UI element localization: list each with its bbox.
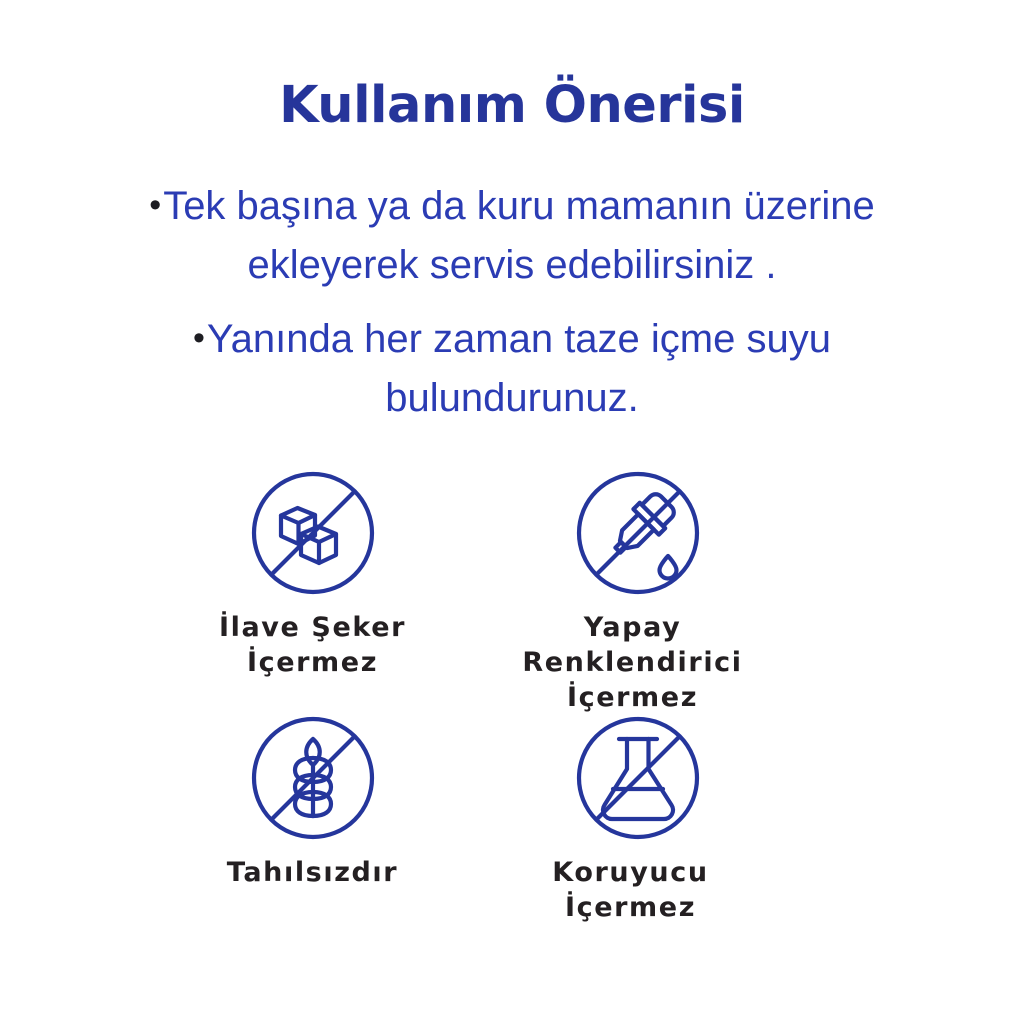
usage-suggestion-card: Kullanım Önerisi •Tek başına ya da kuru …: [0, 0, 1024, 1024]
bullet-marker-icon: •: [149, 186, 163, 224]
claims-badge-grid: İlave Şeker İçermez: [0, 470, 1024, 970]
badge-grain-free: Tahılsızdır: [150, 715, 475, 890]
page-title: Kullanım Önerisi: [0, 78, 1024, 134]
grain-free-wheat-icon: [250, 715, 376, 841]
badge-label: Yapay Renklendirici İçermez: [475, 610, 800, 715]
badge-no-preservatives: Koruyucu İçermez: [475, 715, 800, 925]
badge-no-artificial-coloring: Yapay Renklendirici İçermez: [475, 470, 800, 715]
badge-label: Tahılsızdır: [150, 855, 475, 890]
badge-no-added-sugar: İlave Şeker İçermez: [150, 470, 475, 680]
usage-bullet-1: •Tek başına ya da kuru mamanın üzerine e…: [112, 176, 912, 295]
usage-bullet-2: •Yanında her zaman taze içme suyu bulund…: [112, 309, 912, 428]
no-added-sugar-icon: [250, 470, 376, 596]
usage-bullet-1-text: Tek başına ya da kuru mamanın üzerine ek…: [163, 184, 875, 287]
no-artificial-color-dropper-icon: [575, 470, 701, 596]
badge-label: İlave Şeker İçermez: [150, 610, 475, 680]
usage-bullet-2-text: Yanında her zaman taze içme suyu bulundu…: [207, 317, 831, 420]
no-preservatives-flask-icon: [575, 715, 701, 841]
bullet-marker-icon: •: [193, 319, 207, 357]
badge-label: Koruyucu İçermez: [475, 855, 800, 925]
usage-instructions: •Tek başına ya da kuru mamanın üzerine e…: [112, 176, 912, 428]
